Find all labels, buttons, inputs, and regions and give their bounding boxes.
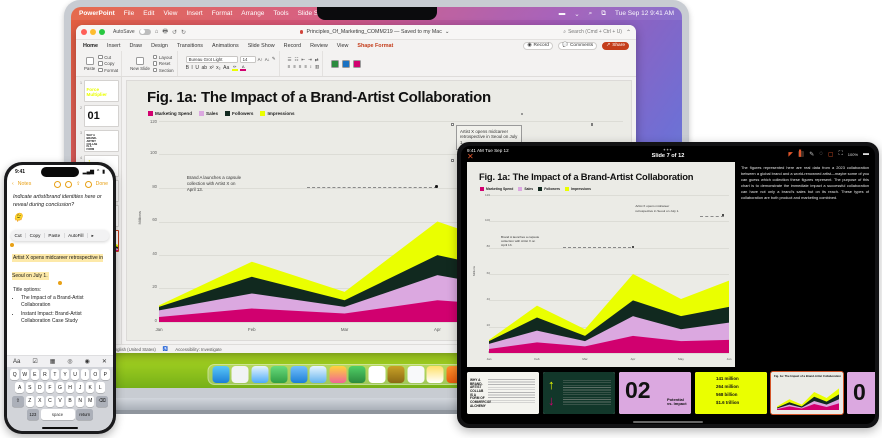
key-j[interactable]: J bbox=[76, 382, 84, 393]
iphone-clock: 9:41 bbox=[15, 169, 25, 175]
quick-styles-button[interactable] bbox=[342, 60, 350, 68]
key-o[interactable]: O bbox=[91, 369, 99, 380]
legend-label: Sales bbox=[206, 111, 218, 116]
close-icon[interactable] bbox=[81, 29, 87, 35]
fs-body-lines bbox=[563, 380, 611, 406]
share-button[interactable]: ↗ Share bbox=[602, 42, 629, 50]
legend-item-sales: Sales bbox=[518, 187, 533, 191]
context-autofill[interactable]: AutoFill bbox=[65, 233, 88, 238]
home-bar bbox=[633, 421, 703, 423]
ipad-status-left: 9:41 AM Tue Sep 12 ✕ bbox=[467, 148, 509, 161]
keyboard-row-4: 123 space return bbox=[9, 409, 111, 420]
selection-handle-start[interactable] bbox=[10, 243, 14, 247]
tab-insert[interactable]: Insert bbox=[107, 43, 120, 49]
chart-legend: Marketing Spend Sales Followers Impressi… bbox=[148, 111, 295, 116]
shapes-icon[interactable]: ▢ bbox=[828, 151, 834, 158]
up-arrow-icon: ↑ bbox=[548, 378, 555, 391]
back-icon[interactable]: ‹ bbox=[12, 181, 14, 187]
filmstrip-item-selected[interactable]: Fig. 1a: The Impact of a Brand-Artist Co… bbox=[771, 372, 843, 414]
reminders-icon[interactable] bbox=[407, 366, 424, 383]
search-box[interactable]: ⌕ Search (Cmd + Ctrl + U) bbox=[563, 29, 622, 35]
ipad-chart-legend: Marketing Spend Sales Followers Impressi… bbox=[480, 187, 591, 191]
return-key[interactable]: return bbox=[76, 409, 93, 420]
key-k[interactable]: K bbox=[86, 382, 94, 393]
key-y[interactable]: Y bbox=[61, 369, 69, 380]
key-l[interactable]: L bbox=[96, 382, 104, 393]
y-tick-100: 100 bbox=[145, 150, 157, 155]
tab-shape-format[interactable]: Shape Format bbox=[357, 43, 393, 49]
y-axis-label: Millions bbox=[137, 211, 142, 224]
status-accessibility[interactable]: Accessibility: Investigate bbox=[175, 347, 222, 352]
section-button[interactable]: Section bbox=[153, 68, 174, 73]
highlight-color-button[interactable]: ✏ bbox=[232, 64, 238, 71]
keyboard-row-2: A S D F G H J K L bbox=[9, 382, 111, 393]
menu-format[interactable]: Format bbox=[212, 10, 233, 17]
tab-design[interactable]: Design bbox=[151, 43, 168, 49]
notes-nav-bar[interactable]: ‹ Notes ⇪ Done bbox=[7, 178, 113, 190]
stat-value: 141 million bbox=[716, 376, 739, 381]
x-tick-feb: Feb bbox=[248, 327, 256, 332]
key-d[interactable]: D bbox=[36, 382, 44, 393]
laser-pointer-icon[interactable]: ◤ bbox=[788, 151, 793, 158]
tab-animations[interactable]: Animations bbox=[212, 43, 239, 49]
paragraph-group: ☰ ☷ ⇤ ⇥ ⇄ ≡ ≡ ≡ ≡ bbox=[285, 51, 324, 76]
y-tick-60: 60 bbox=[145, 217, 157, 222]
calendar-icon[interactable] bbox=[368, 366, 385, 383]
y-tick-40: 40 bbox=[145, 251, 157, 256]
new-slide-icon bbox=[136, 57, 144, 65]
document-title[interactable]: Principles_Of_Marketing_COMM219 — Saved … bbox=[190, 29, 559, 35]
tab-slide-show[interactable]: Slide Show bbox=[248, 43, 275, 49]
title-option-item[interactable]: Instant Impact: Brand-Artist Collaborati… bbox=[21, 311, 107, 325]
filmstrip-item[interactable]: WHY A BRAND-ARTIST COLLAB IS A FORM OF C… bbox=[467, 372, 539, 414]
window-titlebar[interactable]: AutoSave ⌂ 🖶 ↺ ↻ Principles_Of_Marketing… bbox=[76, 25, 636, 40]
menu-file[interactable]: File bbox=[124, 10, 134, 17]
fs-label: Potential vs. Impact bbox=[667, 398, 687, 407]
key-n[interactable]: N bbox=[76, 396, 84, 407]
title-option-item[interactable]: The Impact of a Brand-Artist Collaborati… bbox=[21, 295, 107, 309]
eraser-icon[interactable]: ◌ bbox=[819, 151, 823, 157]
key-h[interactable]: H bbox=[66, 382, 74, 393]
axis-line bbox=[489, 353, 729, 354]
selected-text-block[interactable]: Artist X opens midcareer retrospective i… bbox=[12, 246, 108, 282]
columns-button[interactable]: ▥ bbox=[315, 64, 319, 70]
drawing-group bbox=[328, 51, 364, 76]
justify-button[interactable]: ≡ bbox=[304, 64, 307, 70]
numbers-key[interactable]: 123 bbox=[27, 409, 39, 420]
autosave-label: AutoSave bbox=[113, 29, 135, 35]
shape-fill-button[interactable] bbox=[353, 60, 361, 68]
new-slide-button[interactable]: New Slide bbox=[130, 57, 150, 71]
reset-button[interactable]: Reset bbox=[153, 61, 174, 66]
fs-slide-pros-cons: ↑ ↓ bbox=[543, 372, 615, 414]
thumbnail-item[interactable]: 1 Force Multiplier bbox=[78, 80, 119, 102]
legend-swatch bbox=[225, 111, 230, 116]
superscript-button[interactable]: x² bbox=[210, 65, 214, 71]
autosave-toggle[interactable] bbox=[139, 29, 151, 36]
annotation-leader-line-2 bbox=[700, 216, 724, 217]
context-paste[interactable]: Paste bbox=[45, 233, 65, 238]
ipad-date: Tue Sep 12 bbox=[485, 148, 509, 153]
iphone-screen: 9:41 ▂▄▆ ⌃ ▮ ‹ Notes ⇪ Done bbox=[7, 165, 113, 431]
legend-swatch bbox=[565, 187, 569, 191]
change-case-button[interactable]: Aa bbox=[223, 65, 229, 71]
tab-transitions[interactable]: Transitions bbox=[177, 43, 203, 49]
fs-slide-stats: 141 million 264 million 568 billion $1.6… bbox=[695, 372, 767, 414]
tab-record[interactable]: Record bbox=[284, 43, 301, 49]
x-tick-jan: Jan bbox=[155, 327, 162, 332]
rotate-handle[interactable] bbox=[521, 113, 524, 116]
note-body-text[interactable]: Indicate artist/brand identities here or… bbox=[7, 190, 113, 227]
thumbnail-item[interactable]: 3 WHY A BRAND-ARTIST COLLAB IS A FORM OF… bbox=[78, 130, 119, 152]
cut-icon bbox=[98, 55, 103, 60]
thumb-number: 3 bbox=[78, 130, 82, 135]
wifi-icon: ⌃ bbox=[96, 169, 100, 175]
key-z[interactable]: Z bbox=[26, 396, 34, 407]
context-cut[interactable]: Cut bbox=[11, 233, 26, 238]
presenter-notes[interactable]: The figures represented here are real da… bbox=[741, 162, 869, 367]
cut-label: Cut bbox=[104, 55, 111, 60]
annotation-leader-line bbox=[563, 247, 630, 248]
macbook-notch bbox=[317, 7, 437, 20]
align-row: ≡ ≡ ≡ ≡ ↕ ▥ bbox=[288, 64, 320, 70]
menu-view[interactable]: View bbox=[163, 10, 177, 17]
y-tick-0: 0 bbox=[145, 318, 157, 323]
down-arrow-icon: ↓ bbox=[548, 394, 555, 407]
x-tick-apr: Apr bbox=[434, 327, 441, 332]
comment-icon: 💬 bbox=[562, 43, 568, 48]
unsaved-dot-icon bbox=[300, 30, 304, 34]
fs-slide-text: WHY A BRAND-ARTIST COLLAB IS A FORM OF C… bbox=[467, 372, 539, 414]
screenshot-stage: PowerPoint File Edit View Insert Format … bbox=[0, 0, 882, 438]
key-s[interactable]: S bbox=[26, 382, 34, 393]
resize-handle-tr[interactable] bbox=[591, 123, 594, 126]
contacts-icon[interactable] bbox=[388, 366, 405, 383]
filmstrip-item[interactable]: 02 Potential vs. Impact bbox=[619, 372, 691, 414]
emoji-glyph: 🫠 bbox=[13, 212, 107, 224]
facetime-icon[interactable] bbox=[349, 366, 366, 383]
menu-tools[interactable]: Tools bbox=[273, 10, 288, 17]
resize-handle-bl[interactable] bbox=[451, 159, 454, 162]
thumb-number: 2 bbox=[78, 105, 82, 110]
tab-review[interactable]: Review bbox=[310, 43, 328, 49]
legend-item-followers: Followers bbox=[225, 111, 253, 116]
legend-swatch bbox=[148, 111, 153, 116]
key-w[interactable]: W bbox=[21, 369, 29, 380]
key-f[interactable]: F bbox=[46, 382, 54, 393]
legend-label: Impressions bbox=[571, 187, 591, 191]
battery-icon[interactable]: ▬ bbox=[559, 10, 566, 17]
strikethrough-icon[interactable] bbox=[54, 181, 61, 188]
text-direction-button[interactable]: ⇄ bbox=[315, 57, 319, 63]
fs-slide-chart: Fig. 1a: The Impact of a Brand-Artist Co… bbox=[771, 372, 843, 414]
slide-title[interactable]: Fig. 1a: The Impact of a Brand-Artist Co… bbox=[147, 89, 491, 106]
annotation-brand-launch[interactable]: Brand A launches a capsule collection wi… bbox=[187, 175, 245, 193]
increase-font-icon[interactable]: A↑ bbox=[258, 57, 263, 62]
strikethrough-button[interactable]: ab bbox=[201, 65, 207, 71]
markup-icon[interactable]: ◉ bbox=[85, 358, 90, 365]
fs-heading: WHY A BRAND-ARTIST COLLAB IS A FORM OF C… bbox=[470, 379, 485, 408]
fullscreen-icon[interactable]: ⛶ bbox=[839, 151, 843, 158]
tab-view[interactable]: View bbox=[337, 43, 349, 49]
space-key[interactable]: space bbox=[41, 409, 75, 420]
list-row: ☰ ☷ ⇤ ⇥ ⇄ bbox=[288, 57, 320, 63]
ipad-toolbar[interactable]: ◤ ▌ ✎ ◌ ▢ ⛶ 100% ▬ bbox=[788, 151, 869, 158]
more-icon[interactable] bbox=[85, 181, 92, 188]
search-icon[interactable]: ⌕ bbox=[589, 10, 593, 18]
ipad-top-bar[interactable]: 9:41 AM Tue Sep 12 ✕ ••• Slide 7 of 12 ◤… bbox=[461, 146, 875, 162]
legend-item-impressions: Impressions bbox=[260, 111, 294, 116]
reset-icon bbox=[153, 61, 158, 66]
paragraph-controls: ☰ ☷ ⇤ ⇥ ⇄ ≡ ≡ ≡ ≡ bbox=[288, 57, 320, 71]
legend-item-marketing-spend: Marketing Spend bbox=[148, 111, 192, 116]
subscript-button[interactable]: x₂ bbox=[216, 65, 220, 71]
paste-label: Paste bbox=[84, 66, 95, 71]
format-label: Format bbox=[104, 68, 118, 73]
thumbnail-item[interactable]: 2 01 Defining Collaboration bbox=[78, 105, 119, 127]
undo-icon[interactable]: ↺ bbox=[172, 29, 177, 36]
note-text: Indicate artist/brand identities here or… bbox=[13, 194, 102, 208]
slides-group: New Slide Layout Reset Section bbox=[127, 51, 177, 76]
fs-slide-next: 0 bbox=[847, 372, 875, 414]
tab-draw[interactable]: Draw bbox=[129, 43, 142, 49]
context-more-chevron-icon[interactable]: ▸ bbox=[88, 233, 97, 239]
align-left-button[interactable]: ≡ bbox=[288, 64, 291, 70]
redo-icon[interactable]: ↻ bbox=[181, 29, 186, 36]
info-icon[interactable] bbox=[65, 181, 72, 188]
home-bar bbox=[42, 427, 78, 429]
font-color-button[interactable]: A bbox=[240, 64, 246, 71]
signal-icon: ▂▄▆ bbox=[83, 169, 94, 175]
wifi-icon[interactable]: ⌄ bbox=[574, 10, 579, 18]
key-e[interactable]: E bbox=[31, 369, 39, 380]
underline-button[interactable]: U bbox=[195, 65, 199, 71]
ribbon-tabs[interactable]: Home Insert Draw Design Transitions Anim… bbox=[76, 40, 636, 51]
decrease-indent-button[interactable]: ⇤ bbox=[301, 57, 305, 63]
launchpad-icon[interactable] bbox=[232, 366, 249, 383]
context-copy[interactable]: Copy bbox=[26, 233, 45, 238]
legend-label: Marketing Spend bbox=[486, 187, 513, 191]
arrange-icon bbox=[331, 60, 339, 68]
comments-button[interactable]: 💬 Comments bbox=[558, 42, 597, 50]
pen-icon[interactable]: ✎ bbox=[809, 151, 814, 158]
close-icon[interactable]: ✕ bbox=[102, 358, 107, 365]
align-right-button[interactable]: ≡ bbox=[299, 64, 302, 70]
ipad-slide-counter: Slide 7 of 12 bbox=[652, 153, 685, 159]
x-tick-jan: Jan bbox=[487, 357, 492, 361]
font-name-input[interactable]: Bureau Grot Light bbox=[186, 56, 238, 63]
iphone-keyboard[interactable]: Q W E R T Y U I O P A S D F G H bbox=[7, 367, 113, 425]
thumb-image: WHY A BRAND-ARTIST COLLAB IS A FORM OF C… bbox=[84, 130, 120, 152]
key-m[interactable]: M bbox=[86, 396, 94, 407]
title-chevron-icon[interactable]: ⌄ bbox=[445, 29, 449, 35]
y-tick-20: 20 bbox=[145, 284, 157, 289]
messages-icon[interactable] bbox=[271, 366, 288, 383]
format-painter-button[interactable]: Format bbox=[98, 68, 118, 73]
checklist-icon[interactable]: ☑ bbox=[32, 358, 37, 365]
document-title-text: Principles_Of_Marketing_COMM219 — Saved … bbox=[306, 29, 441, 35]
cut-button[interactable]: Cut bbox=[98, 55, 118, 60]
paste-icon bbox=[86, 57, 94, 65]
selected-text[interactable]: Artist X opens midcareer retrospective i… bbox=[12, 254, 103, 280]
menubar-clock[interactable]: Tue Sep 12 9:41 AM bbox=[615, 10, 674, 17]
annotation-anchor-dot bbox=[632, 246, 634, 248]
menu-edit[interactable]: Edit bbox=[143, 10, 154, 17]
home-icon[interactable]: ⌂ bbox=[155, 29, 159, 35]
key-c[interactable]: C bbox=[46, 396, 54, 407]
x-tick-mar: Mar bbox=[582, 357, 587, 361]
paste-button[interactable]: Paste bbox=[84, 57, 95, 71]
font-row-2: B I U ab x² x₂ Aa ✏ A bbox=[186, 64, 276, 71]
photos-icon[interactable] bbox=[329, 366, 346, 383]
status-language[interactable]: English (United States) bbox=[112, 347, 156, 352]
italic-button[interactable]: I bbox=[191, 65, 192, 71]
tab-home[interactable]: Home bbox=[83, 43, 98, 49]
legend-item-impressions: Impressions bbox=[565, 187, 591, 191]
ipad-slide-filmstrip[interactable]: WHY A BRAND-ARTIST COLLAB IS A FORM OF C… bbox=[461, 367, 875, 419]
ipad-battery-label: 100% bbox=[848, 152, 858, 157]
font-group: Bureau Grot Light 14 A↑ A↓ ✎ B I U bbox=[183, 51, 280, 76]
iphone-home-indicator bbox=[7, 425, 113, 431]
ribbon-toggle-icon[interactable]: ⌃ bbox=[626, 29, 631, 36]
record-icon: ◉ bbox=[527, 43, 531, 48]
highlighter-icon[interactable]: ▌ bbox=[798, 151, 804, 157]
thumb-title-text: Force Multiplier bbox=[87, 87, 107, 97]
clear-formatting-icon[interactable]: ✎ bbox=[272, 56, 276, 62]
key-v[interactable]: V bbox=[56, 396, 64, 407]
key-p[interactable]: P bbox=[101, 369, 109, 380]
legend-label: Followers bbox=[232, 111, 253, 116]
shape-fill-icon bbox=[353, 60, 361, 68]
legend-swatch bbox=[518, 187, 522, 191]
title-options-block: Title options: The Impact of a Brand-Art… bbox=[7, 282, 113, 326]
legend-label: Followers bbox=[544, 187, 560, 191]
new-slide-label: New Slide bbox=[130, 66, 150, 71]
stat-value: 264 million bbox=[716, 384, 739, 389]
backspace-key[interactable]: ⌫ bbox=[96, 396, 108, 407]
x-tick-mar: Mar bbox=[341, 327, 349, 332]
finder-icon[interactable] bbox=[212, 366, 229, 383]
key-g[interactable]: G bbox=[56, 382, 64, 393]
text-context-menu[interactable]: Cut Copy Paste AutoFill ▸ bbox=[11, 230, 109, 241]
battery-icon: ▬ bbox=[863, 151, 869, 157]
key-b[interactable]: B bbox=[66, 396, 74, 407]
thumb-number-text: 01 bbox=[88, 111, 100, 122]
fs-chart-graphic bbox=[777, 386, 839, 410]
increase-indent-button[interactable]: ⇥ bbox=[308, 57, 312, 63]
maximize-icon[interactable] bbox=[99, 29, 105, 35]
copy-icon bbox=[98, 61, 103, 66]
safari-icon[interactable] bbox=[251, 366, 268, 383]
camera-icon[interactable]: ◎ bbox=[67, 358, 72, 365]
thumb-number: 4 bbox=[78, 155, 82, 160]
key-t[interactable]: T bbox=[51, 369, 59, 380]
annotation-anchor-dot bbox=[435, 185, 438, 188]
bold-button[interactable]: B bbox=[186, 65, 189, 71]
key-i[interactable]: I bbox=[81, 369, 89, 380]
shift-key[interactable]: ⇧ bbox=[12, 396, 24, 407]
minimize-icon[interactable] bbox=[90, 29, 96, 35]
thumb-number: 1 bbox=[78, 80, 82, 85]
fs-slide-02: 02 Potential vs. Impact bbox=[619, 372, 691, 414]
legend-label: Sales bbox=[524, 187, 533, 191]
key-x[interactable]: X bbox=[36, 396, 44, 407]
key-r[interactable]: R bbox=[41, 369, 49, 380]
menu-insert[interactable]: Insert bbox=[186, 10, 202, 17]
resize-handle-tl[interactable] bbox=[451, 123, 454, 126]
decrease-font-icon[interactable]: A↓ bbox=[265, 57, 270, 62]
numbered-list-button[interactable]: ☷ bbox=[294, 57, 298, 63]
share-icon[interactable]: ⇪ bbox=[76, 181, 80, 187]
ribbon-toolbar[interactable]: Paste Cut Copy Format New Slide bbox=[76, 51, 636, 77]
filmstrip-item[interactable]: ↑ ↓ bbox=[543, 372, 615, 414]
legend-item-sales: Sales bbox=[199, 111, 218, 116]
annotation-brand-launch: Brand A launches a capsule collection wi… bbox=[501, 235, 541, 248]
layout-button[interactable]: Layout bbox=[153, 55, 174, 60]
filmstrip-item[interactable]: 0 bbox=[847, 372, 875, 414]
key-a[interactable]: A bbox=[15, 382, 23, 393]
text-format-icon[interactable]: Aa bbox=[13, 359, 20, 365]
control-center-icon[interactable]: ⧉ bbox=[601, 10, 606, 18]
key-u[interactable]: U bbox=[71, 369, 79, 380]
menubar-app-name[interactable]: PowerPoint bbox=[79, 10, 115, 17]
thumb-heading: WHY A BRAND-ARTIST COLLAB IS A FORM OF C… bbox=[87, 135, 96, 152]
keyboard-row-1: Q W E R T Y U I O P bbox=[9, 369, 111, 380]
line-spacing-button[interactable]: ↕ bbox=[310, 64, 312, 70]
notes-icon[interactable] bbox=[427, 366, 444, 383]
iphone-device: 9:41 ▂▄▆ ⌃ ▮ ‹ Notes ⇪ Done bbox=[4, 162, 116, 434]
ipad-current-slide[interactable]: Fig. 1a: The Impact of a Brand-Artist Co… bbox=[467, 162, 735, 367]
clipboard-actions: Cut Copy Format bbox=[98, 55, 118, 73]
back-label[interactable]: Notes bbox=[18, 181, 32, 187]
maps-icon[interactable] bbox=[310, 366, 327, 383]
notes-format-bar[interactable]: Aa ☑ ▦ ◎ ◉ ✕ bbox=[7, 355, 113, 367]
filmstrip-item[interactable]: 141 million 264 million 568 billion $1.6… bbox=[695, 372, 767, 414]
copy-button[interactable]: Copy bbox=[98, 61, 118, 66]
mail-icon[interactable] bbox=[290, 366, 307, 383]
ipad-center-title: ••• Slide 7 of 12 bbox=[652, 149, 685, 159]
bulleted-list-button[interactable]: ☰ bbox=[288, 57, 292, 63]
ipad-stacked-area-chart bbox=[489, 195, 729, 353]
done-label[interactable]: Done bbox=[96, 181, 108, 187]
font-size-input[interactable]: 14 bbox=[240, 56, 256, 63]
print-icon[interactable]: 🖶 bbox=[162, 27, 168, 37]
iphone-status-bar: 9:41 ▂▄▆ ⌃ ▮ bbox=[7, 165, 113, 178]
ipad-slide-title: Fig. 1a: The Impact of a Brand-Artist Co… bbox=[479, 171, 693, 182]
arrange-button[interactable] bbox=[331, 60, 339, 68]
legend-swatch bbox=[260, 111, 265, 116]
x-tick-jun: Jun bbox=[727, 357, 732, 361]
thumb-image: Force Multiplier bbox=[84, 80, 120, 102]
layout-icon bbox=[153, 55, 158, 60]
share-icon: ↗ bbox=[606, 43, 610, 48]
legend-swatch bbox=[480, 187, 484, 191]
copy-label: Copy bbox=[104, 61, 114, 66]
key-q[interactable]: Q bbox=[10, 369, 18, 380]
stat-value: 568 billion bbox=[716, 392, 737, 397]
table-icon[interactable]: ▦ bbox=[50, 358, 56, 365]
traffic-lights[interactable] bbox=[81, 29, 105, 35]
title-options-list: The Impact of a Brand-Artist Collaborati… bbox=[21, 295, 107, 325]
search-icon: ⌕ bbox=[563, 29, 566, 35]
align-center-button[interactable]: ≡ bbox=[293, 64, 296, 70]
menu-arrange[interactable]: Arrange bbox=[241, 10, 264, 17]
title-options-heading: Title options: bbox=[13, 287, 41, 293]
ipad-presenter-view: Fig. 1a: The Impact of a Brand-Artist Co… bbox=[461, 162, 875, 367]
close-icon[interactable]: ✕ bbox=[467, 153, 509, 161]
notes-nav-actions: ⇪ Done bbox=[54, 181, 108, 188]
record-button[interactable]: ◉ Record bbox=[523, 42, 553, 50]
